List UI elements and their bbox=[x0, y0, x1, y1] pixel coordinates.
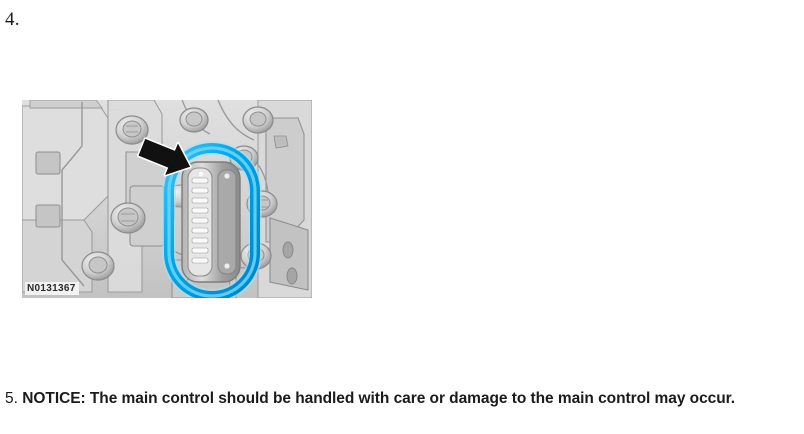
notice-text: NOTICE: The main control should be handl… bbox=[22, 390, 735, 407]
step-4-marker: 4. bbox=[5, 9, 20, 31]
figure-id-watermark: N0131367 bbox=[25, 282, 79, 295]
illustration-svg bbox=[22, 100, 312, 298]
step-5-marker: 5. bbox=[5, 390, 18, 407]
step-5-notice: 5. NOTICE: The main control should be ha… bbox=[5, 389, 799, 409]
main-control-illustration bbox=[22, 100, 312, 298]
main-control-connector bbox=[182, 162, 240, 282]
figure-container: N0131367 bbox=[22, 100, 312, 298]
